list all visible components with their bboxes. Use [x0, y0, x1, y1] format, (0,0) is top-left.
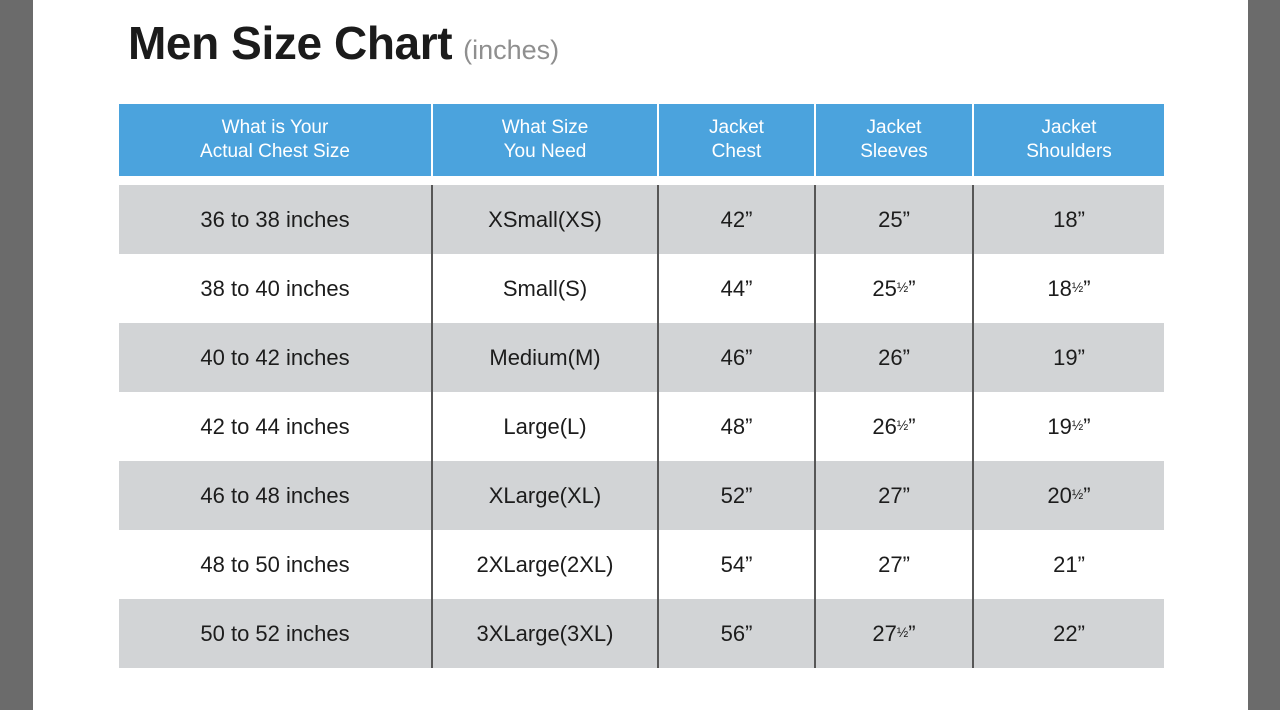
cell-jacket-chest: 54”	[658, 530, 815, 599]
cell-chest-range: 38 to 40 inches	[119, 254, 432, 323]
letterbox-bar-right	[1248, 0, 1280, 710]
header-row: What is Your Actual Chest Size What Size…	[119, 104, 1164, 176]
half-fraction-glyph: ½	[1072, 417, 1083, 432]
column-header-jacket-shoulders: Jacket Shoulders	[973, 104, 1164, 176]
table-body: 36 to 38 inches XSmall(XS) 42” 25” 18” 3…	[119, 176, 1164, 668]
cell-size-name: Large(L)	[432, 392, 658, 461]
size-chart-table: What is Your Actual Chest Size What Size…	[119, 104, 1164, 668]
cell-size-name: Medium(M)	[432, 323, 658, 392]
cell-jacket-shoulders: 21”	[973, 530, 1164, 599]
column-header-actual-chest-size: What is Your Actual Chest Size	[119, 104, 432, 176]
content-canvas: Men Size Chart (inches) What is Your Act…	[33, 0, 1248, 710]
inch-mark: ”	[1083, 276, 1090, 301]
letterbox-bar-left	[0, 0, 33, 710]
column-header-size-you-need: What Size You Need	[432, 104, 658, 176]
cell-jacket-sleeves: 27”	[815, 530, 973, 599]
cell-jacket-sleeves: 25”	[815, 185, 973, 254]
cell-chest-range: 50 to 52 inches	[119, 599, 432, 668]
cell-jacket-sleeves: 26½”	[815, 392, 973, 461]
inch-mark: ”	[908, 276, 915, 301]
column-header-line1: What is Your	[119, 116, 431, 140]
cell-size-name: 3XLarge(3XL)	[432, 599, 658, 668]
screenshot-stage: Men Size Chart (inches) What is Your Act…	[0, 0, 1280, 710]
cell-jacket-shoulders: 20½”	[973, 461, 1164, 530]
column-header-line2: Chest	[659, 140, 814, 164]
cell-jacket-shoulders: 18½”	[973, 254, 1164, 323]
cell-jacket-sleeves: 26”	[815, 323, 973, 392]
cell-jacket-chest: 48”	[658, 392, 815, 461]
table-row: 48 to 50 inches 2XLarge(2XL) 54” 27” 21”	[119, 530, 1164, 599]
header-gap	[119, 176, 1164, 185]
cell-jacket-sleeves: 25½”	[815, 254, 973, 323]
table-row: 50 to 52 inches 3XLarge(3XL) 56” 27½” 22…	[119, 599, 1164, 668]
cell-jacket-shoulders: 18”	[973, 185, 1164, 254]
cell-jacket-shoulders: 19”	[973, 323, 1164, 392]
table-header: What is Your Actual Chest Size What Size…	[119, 104, 1164, 176]
half-fraction-glyph: ½	[897, 279, 908, 294]
table-row: 38 to 40 inches Small(S) 44” 25½” 18½”	[119, 254, 1164, 323]
column-header-line1: Jacket	[974, 116, 1164, 140]
cell-chest-range: 46 to 48 inches	[119, 461, 432, 530]
half-fraction-glyph: ½	[1072, 279, 1083, 294]
column-header-line1: What Size	[433, 116, 657, 140]
page-title-main: Men Size Chart	[128, 20, 452, 66]
inch-mark: ”	[908, 621, 915, 646]
cell-jacket-chest: 52”	[658, 461, 815, 530]
column-header-jacket-chest: Jacket Chest	[658, 104, 815, 176]
column-header-line2: Sleeves	[816, 140, 972, 164]
column-header-line1: Jacket	[659, 116, 814, 140]
cell-chest-range: 36 to 38 inches	[119, 185, 432, 254]
column-header-line2: Shoulders	[974, 140, 1164, 164]
cell-jacket-chest: 56”	[658, 599, 815, 668]
cell-jacket-chest: 42”	[658, 185, 815, 254]
cell-size-name: Small(S)	[432, 254, 658, 323]
cell-chest-range: 40 to 42 inches	[119, 323, 432, 392]
cell-jacket-chest: 46”	[658, 323, 815, 392]
cell-size-name: 2XLarge(2XL)	[432, 530, 658, 599]
half-fraction-glyph: ½	[1072, 486, 1083, 501]
inch-mark: ”	[1083, 483, 1090, 508]
table-row: 42 to 44 inches Large(L) 48” 26½” 19½”	[119, 392, 1164, 461]
cell-jacket-sleeves: 27”	[815, 461, 973, 530]
table-row: 36 to 38 inches XSmall(XS) 42” 25” 18”	[119, 185, 1164, 254]
cell-jacket-shoulders: 19½”	[973, 392, 1164, 461]
inch-mark: ”	[1083, 414, 1090, 439]
half-fraction-glyph: ½	[897, 417, 908, 432]
cell-chest-range: 42 to 44 inches	[119, 392, 432, 461]
cell-jacket-chest: 44”	[658, 254, 815, 323]
table-row: 46 to 48 inches XLarge(XL) 52” 27” 20½”	[119, 461, 1164, 530]
inch-mark: ”	[908, 414, 915, 439]
cell-jacket-sleeves: 27½”	[815, 599, 973, 668]
page-title: Men Size Chart (inches)	[128, 20, 559, 66]
column-header-line1: Jacket	[816, 116, 972, 140]
cell-chest-range: 48 to 50 inches	[119, 530, 432, 599]
column-header-line2: Actual Chest Size	[119, 140, 431, 164]
page-title-unit: (inches)	[463, 37, 559, 64]
cell-jacket-shoulders: 22”	[973, 599, 1164, 668]
half-fraction-glyph: ½	[897, 624, 908, 639]
column-header-jacket-sleeves: Jacket Sleeves	[815, 104, 973, 176]
table-row: 40 to 42 inches Medium(M) 46” 26” 19”	[119, 323, 1164, 392]
cell-size-name: XSmall(XS)	[432, 185, 658, 254]
column-header-line2: You Need	[433, 140, 657, 164]
cell-size-name: XLarge(XL)	[432, 461, 658, 530]
